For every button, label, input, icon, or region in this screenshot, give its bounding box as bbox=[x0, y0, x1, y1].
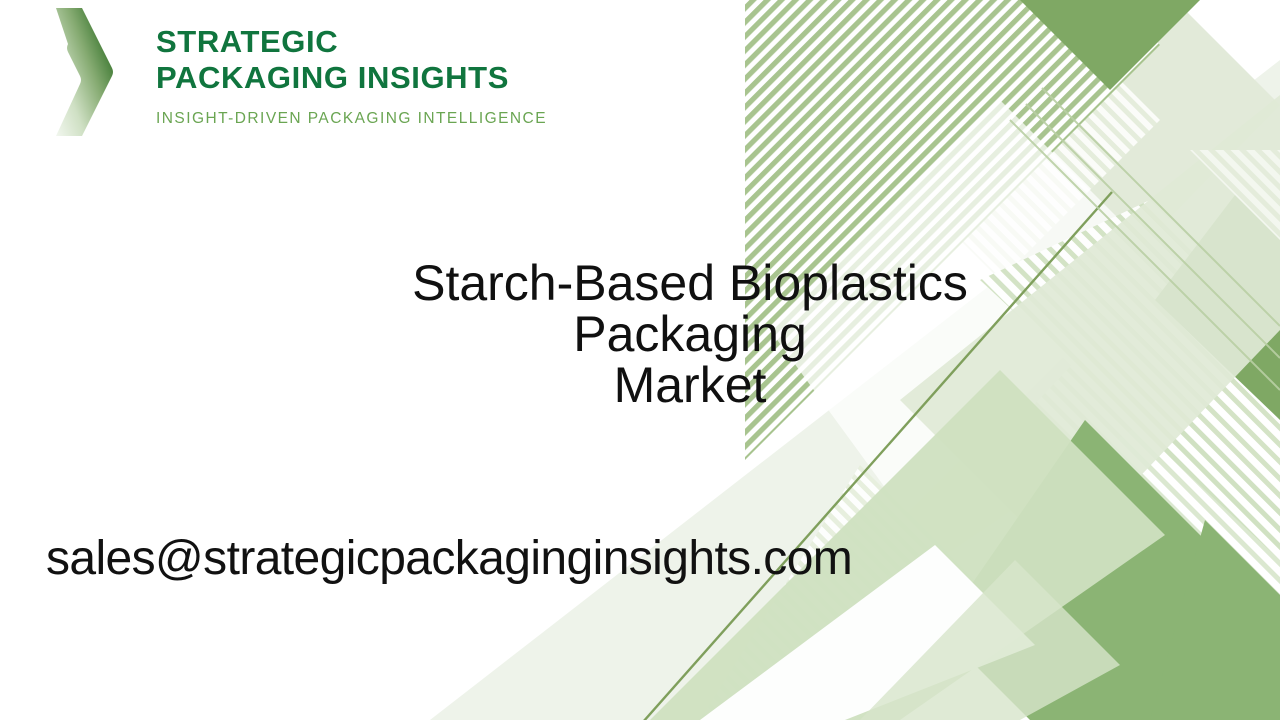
mid-green-band-lower-right-2 bbox=[1150, 520, 1280, 720]
dark-green-shape-right bbox=[1155, 195, 1280, 420]
logo-line-1: STRATEGIC bbox=[156, 24, 547, 60]
faint-edge-stripes bbox=[1190, 150, 1280, 240]
logo-tagline: INSIGHT-DRIVEN PACKAGING INTELLIGENCE bbox=[156, 110, 547, 128]
logo-wordmark: STRATEGIC PACKAGING INSIGHTS INSIGHT-DRI… bbox=[156, 6, 547, 128]
contact-email[interactable]: sales@strategicpackaginginsights.com bbox=[46, 530, 852, 588]
stripe-fan-bottom bbox=[700, 465, 1010, 720]
chevron-arrow-icon bbox=[52, 6, 114, 138]
page-title: Starch-Based Bioplastics Packaging Marke… bbox=[260, 258, 1120, 411]
brand-logo: STRATEGIC PACKAGING INSIGHTS INSIGHT-DRI… bbox=[52, 6, 547, 138]
pale-wedge-bottom-inner bbox=[860, 560, 1120, 720]
faint-stripe-block bbox=[820, 0, 1160, 280]
presentation-slide: STRATEGIC PACKAGING INSIGHTS INSIGHT-DRI… bbox=[0, 0, 1280, 720]
title-line-2: Packaging bbox=[260, 309, 1120, 360]
title-line-3: Market bbox=[260, 360, 1120, 411]
dark-green-shape-top bbox=[1000, 0, 1230, 90]
logo-line-2: PACKAGING INSIGHTS bbox=[156, 60, 547, 96]
title-line-1: Starch-Based Bioplastics bbox=[260, 258, 1120, 309]
mid-green-band-lower-right bbox=[940, 420, 1280, 720]
